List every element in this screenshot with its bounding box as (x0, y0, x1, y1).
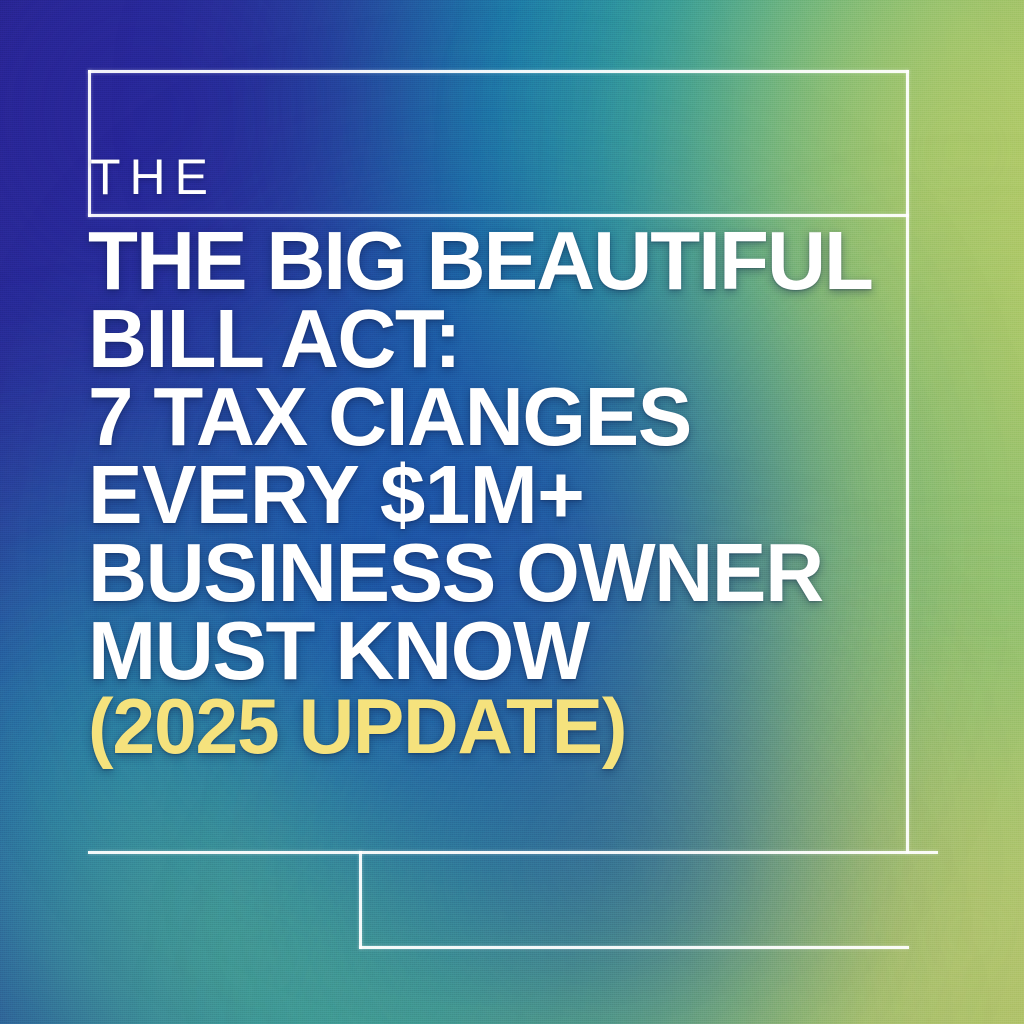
headline-line-5: BUSINESS OWNER (88, 534, 955, 612)
headline-line-7-update-badge: (2025 UPDATE) (88, 690, 955, 763)
social-graphic-canvas: THE THE BIG BEAUTIFUL BILL ACT: 7 TAX CI… (0, 0, 1024, 1024)
text-content: THE THE BIG BEAUTIFUL BILL ACT: 7 TAX CI… (0, 0, 1024, 1024)
headline-line-3: 7 TAX CIANGES (88, 378, 955, 456)
headline-line-4: EVERY $1M+ (88, 456, 955, 534)
headline-block: THE BIG BEAUTIFUL BILL ACT: 7 TAX CIANGE… (88, 222, 955, 763)
eyebrow-label: THE (90, 152, 217, 202)
headline-line-1: THE BIG BEAUTIFUL (88, 222, 955, 300)
headline-line-6: MUST KNOW (88, 612, 955, 690)
headline-line-2: BILL ACT: (88, 300, 955, 378)
